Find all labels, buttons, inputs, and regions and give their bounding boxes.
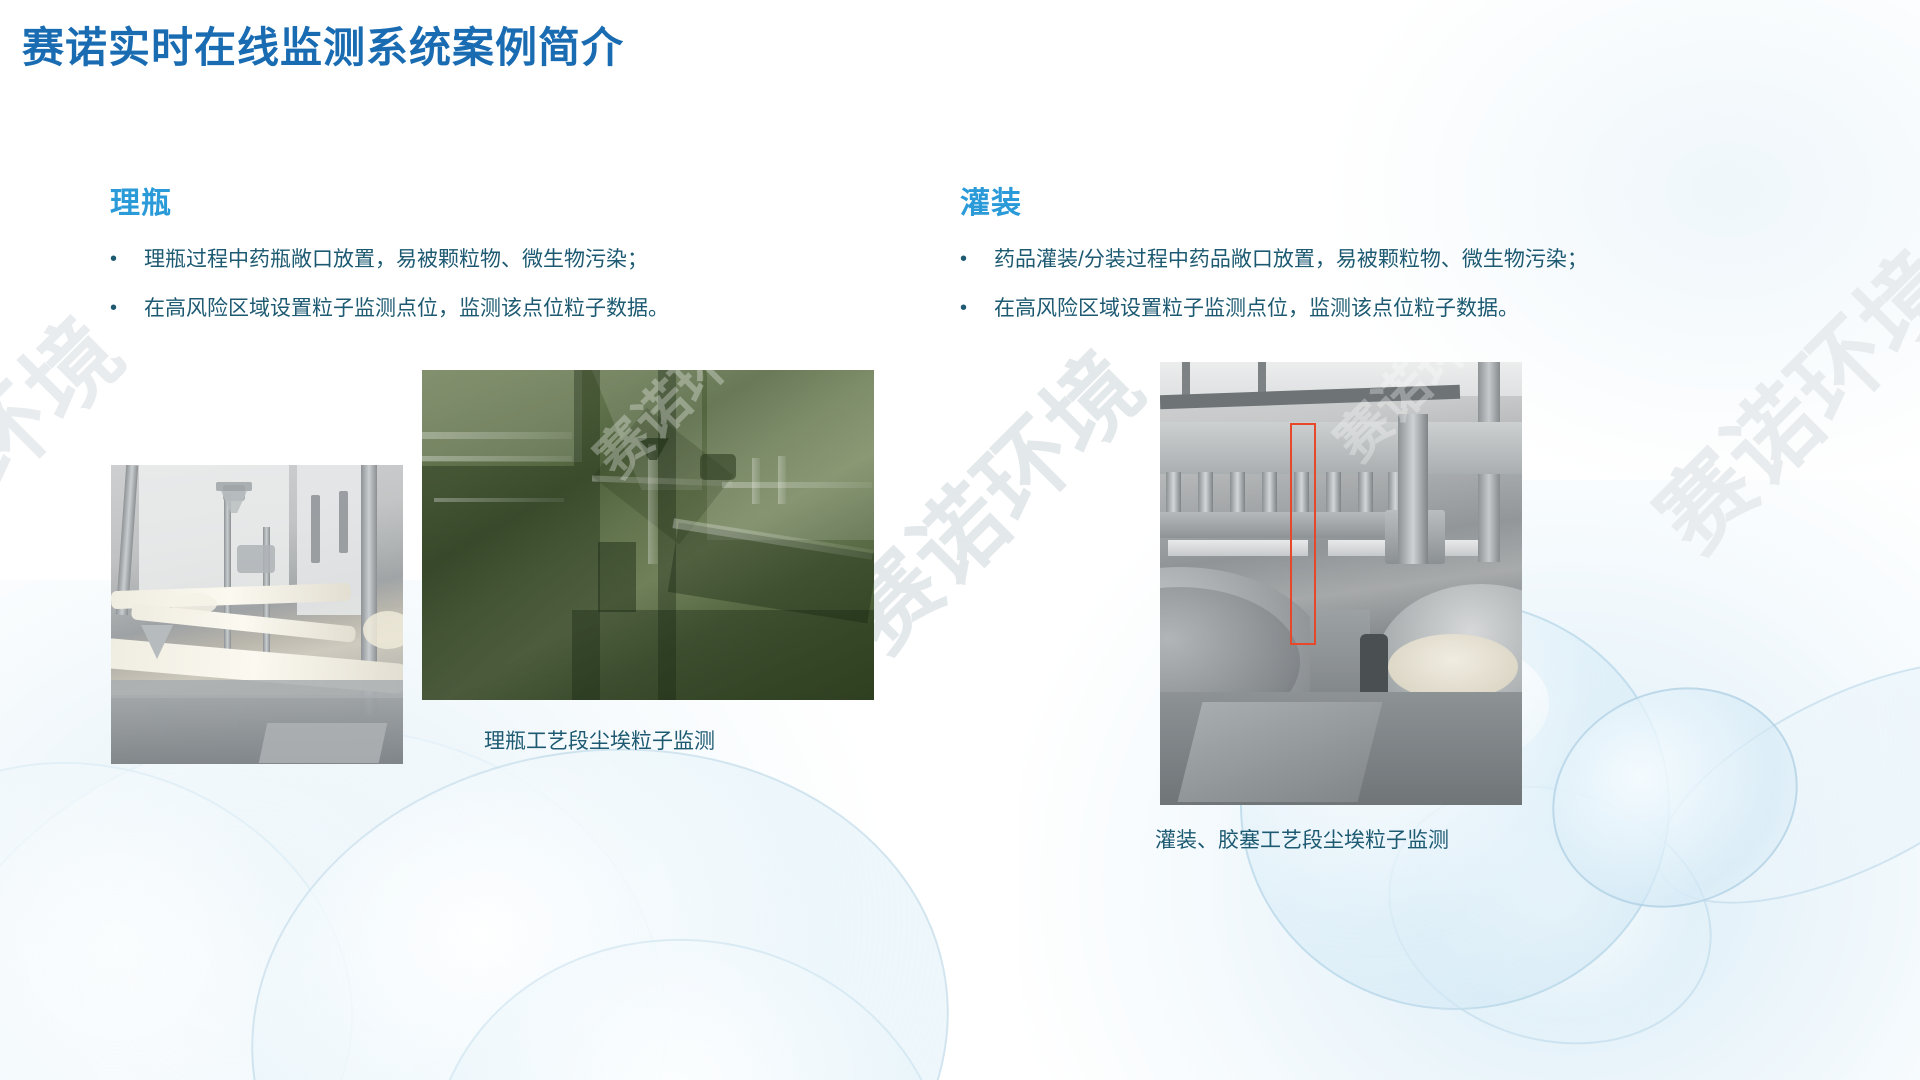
section-heading-bottling: 理瓶 (110, 178, 850, 222)
bullet-text: 在高风险区域设置粒子监测点位，监测该点位粒子数据。 (144, 293, 850, 325)
page-title: 赛诺实时在线监测系统案例简介 (22, 14, 624, 75)
decorative-bubble-6 (1623, 612, 1920, 953)
bullet-dot-icon: • (960, 293, 994, 323)
bullet-text: 药品灌装/分装过程中药品敞口放置，易被颗粒物、微生物污染； (994, 244, 1840, 276)
section-bottling: 理瓶 • 理瓶过程中药瓶敞口放置，易被颗粒物、微生物污染； • 在高风险区域设置… (110, 178, 850, 341)
section-heading-filling: 灌装 (960, 178, 1840, 222)
bullet-list-bottling: • 理瓶过程中药瓶敞口放置，易被颗粒物、微生物污染； • 在高风险区域设置粒子监… (110, 244, 850, 324)
section-filling: 灌装 • 药品灌装/分装过程中药品敞口放置，易被颗粒物、微生物污染； • 在高风… (960, 178, 1840, 341)
bullet-text: 在高风险区域设置粒子监测点位，监测该点位粒子数据。 (994, 293, 1840, 325)
photo-filling-line: 赛诺环境 (1160, 362, 1522, 805)
decorative-bubble-4 (1519, 651, 1831, 944)
bullet-list-filling: • 药品灌装/分装过程中药品敞口放置，易被颗粒物、微生物污染； • 在高风险区域… (960, 244, 1840, 324)
list-item: • 在高风险区域设置粒子监测点位，监测该点位粒子数据。 (110, 293, 850, 325)
photo-green-line: 赛诺环境 (422, 370, 874, 700)
list-item: • 药品灌装/分装过程中药品敞口放置，易被颗粒物、微生物污染； (960, 244, 1840, 276)
list-item: • 理瓶过程中药瓶敞口放置，易被颗粒物、微生物污染； (110, 244, 850, 276)
decorative-bubble-2 (387, 891, 993, 1080)
list-item: • 在高风险区域设置粒子监测点位，监测该点位粒子数据。 (960, 293, 1840, 325)
photo-bottling-line (111, 465, 403, 764)
bullet-dot-icon: • (110, 244, 144, 274)
photo-caption-filling: 灌装、胶塞工艺段尘埃粒子监测 (1155, 824, 1449, 854)
bullet-dot-icon: • (960, 244, 994, 274)
monitoring-point-annotation-box (1290, 423, 1316, 645)
photo-caption-bottling: 理瓶工艺段尘埃粒子监测 (484, 725, 715, 755)
bullet-text: 理瓶过程中药瓶敞口放置，易被颗粒物、微生物污染； (144, 244, 850, 276)
bullet-dot-icon: • (110, 293, 144, 323)
